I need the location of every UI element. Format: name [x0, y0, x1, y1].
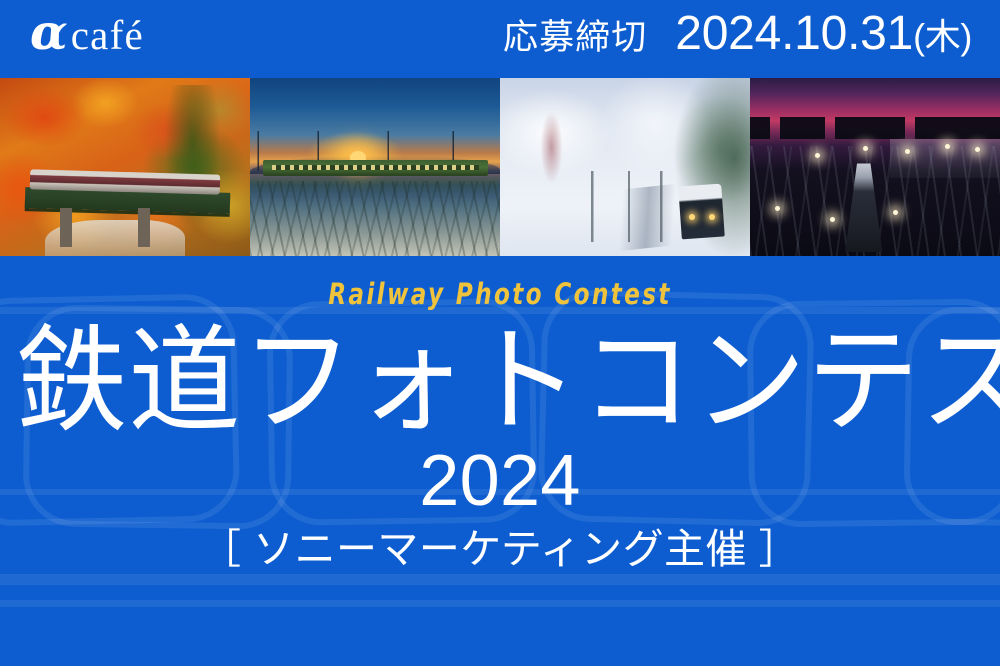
- photo-detail: [575, 171, 690, 242]
- cafe-wordmark: café: [71, 15, 144, 56]
- contest-year: 2024: [0, 445, 1000, 517]
- photo-detail: [263, 160, 488, 176]
- organizer-label: ［ ソニーマーケティング主催 ］: [0, 529, 1000, 570]
- photo-autumn-foliage[interactable]: [0, 78, 250, 256]
- poster-canvas: α café 応募締切 2024.10.31 (木): [0, 0, 1000, 666]
- alpha-cafe-logo[interactable]: α café: [30, 8, 144, 57]
- photo-detail: [678, 183, 724, 239]
- photo-detail: [60, 208, 72, 247]
- photo-detail: [945, 144, 950, 149]
- main-content: Railway Photo Contest 鉄道フォトコンテスト 2024 ［ …: [0, 256, 1000, 666]
- deadline-date: 2024.10.31: [675, 10, 913, 58]
- photo-detail: [863, 146, 868, 151]
- photo-strip: [0, 78, 1000, 256]
- deadline-day-of-week: (木): [913, 19, 972, 55]
- photo-detail: [750, 117, 1000, 138]
- header-bar: α café 応募締切 2024.10.31 (木): [0, 0, 1000, 78]
- photo-detail: [540, 110, 563, 185]
- photo-detail: [138, 208, 150, 247]
- deadline-label: 応募締切: [503, 20, 647, 55]
- photo-detail: [815, 153, 820, 158]
- photo-detail: [250, 181, 500, 256]
- photo-sunset-rice-paddy[interactable]: [250, 78, 500, 256]
- alpha-glyph-icon: α: [30, 8, 67, 57]
- photo-detail: [830, 217, 835, 222]
- photo-detail: [893, 210, 898, 215]
- photo-snowy-winter[interactable]: [500, 78, 750, 256]
- contest-eyebrow: Railway Photo Contest: [100, 280, 900, 309]
- deadline-block: 応募締切 2024.10.31 (木): [503, 10, 972, 58]
- photo-night-rail-yard[interactable]: [750, 78, 1000, 256]
- page-title: 鉄道フォトコンテスト: [15, 323, 985, 439]
